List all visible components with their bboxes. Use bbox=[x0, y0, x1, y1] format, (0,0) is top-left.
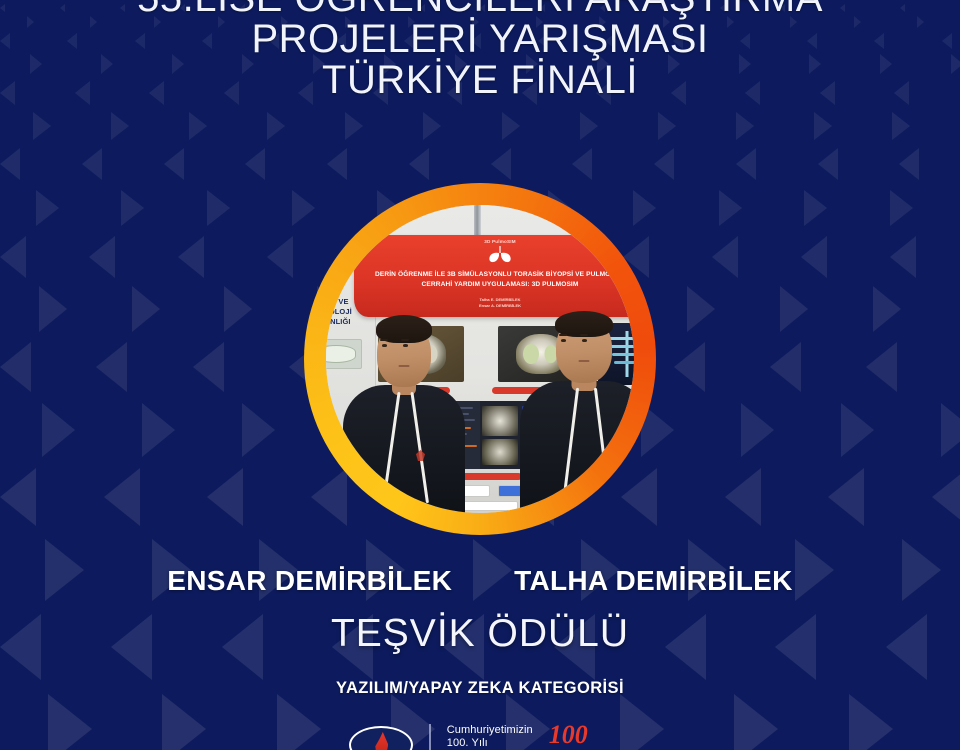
winner-name-1: ENSAR DEMİRBİLEK bbox=[167, 565, 452, 597]
anniversary-mark-item: 100 bbox=[549, 718, 611, 750]
background-triangle bbox=[33, 112, 51, 140]
lungs-icon bbox=[487, 245, 513, 263]
background-triangle bbox=[111, 112, 129, 140]
project-brand-label: 3D PulmoSIM bbox=[354, 239, 634, 244]
award-title-block: TEŞVİK ÖDÜLÜ bbox=[0, 612, 960, 656]
background-triangle bbox=[178, 236, 204, 278]
background-triangle bbox=[104, 468, 140, 526]
background-triangle bbox=[502, 112, 520, 140]
anniversary-mark-text: 100 bbox=[549, 720, 588, 749]
background-triangle bbox=[580, 112, 598, 140]
tubitak-logo-icon bbox=[349, 718, 413, 750]
background-triangle bbox=[242, 403, 275, 457]
background-triangle bbox=[866, 342, 897, 392]
background-triangle bbox=[267, 236, 293, 278]
background-triangle bbox=[814, 112, 832, 140]
booth-scene: SANAYİ VE TEKNOLOJİ BAKANLIĞI 3D PulmoSI… bbox=[326, 205, 634, 513]
background-triangle bbox=[801, 236, 827, 278]
photo-clip: SANAYİ VE TEKNOLOJİ BAKANLIĞI 3D PulmoSI… bbox=[326, 205, 634, 513]
background-triangle bbox=[207, 468, 243, 526]
background-triangle bbox=[193, 342, 224, 392]
background-triangle bbox=[0, 148, 20, 180]
background-triangle bbox=[409, 148, 429, 180]
background-triangle bbox=[491, 148, 511, 180]
background-triangle bbox=[658, 112, 676, 140]
background-triangle bbox=[207, 190, 230, 226]
background-triangle bbox=[82, 148, 102, 180]
background-triangle bbox=[654, 148, 674, 180]
background-triangle bbox=[780, 286, 808, 332]
background-triangle bbox=[121, 190, 144, 226]
background-triangle bbox=[267, 112, 285, 140]
award-title: TEŞVİK ÖDÜLÜ bbox=[331, 612, 629, 655]
student-right bbox=[522, 291, 634, 513]
background-triangle bbox=[142, 403, 175, 457]
anniversary-slogan: Cumhuriyetimizin 100. Yılı bbox=[447, 718, 533, 750]
background-triangle bbox=[741, 403, 774, 457]
background-triangle bbox=[719, 190, 742, 226]
winner-name-2: TALHA DEMİRBİLEK bbox=[514, 565, 793, 597]
slogan-line-2: 100. Yılı bbox=[447, 737, 533, 750]
background-triangle bbox=[736, 148, 756, 180]
footer-divider bbox=[429, 724, 431, 750]
background-triangle bbox=[892, 112, 910, 140]
background-triangle bbox=[841, 403, 874, 457]
background-triangle bbox=[89, 236, 115, 278]
headline-line-2: PROJELERİ YARIŞMASI bbox=[0, 19, 960, 60]
background-triangle bbox=[39, 286, 67, 332]
background-triangle bbox=[804, 190, 827, 226]
winner-names: ENSAR DEMİRBİLEK TALHA DEMİRBİLEK bbox=[0, 565, 960, 597]
slogan-line-1: Cumhuriyetimizin bbox=[447, 724, 533, 737]
background-triangle bbox=[42, 403, 75, 457]
background-triangle bbox=[0, 342, 31, 392]
student-left bbox=[344, 295, 464, 513]
background-triangle bbox=[873, 286, 901, 332]
headline-line-1: 55.LİSE ÖĞRENCİLERİ ARAŞTIRMA bbox=[0, 0, 960, 19]
background-triangle bbox=[687, 286, 715, 332]
headline-line-3: TÜRKİYE FİNALİ bbox=[0, 60, 960, 101]
background-triangle bbox=[890, 190, 913, 226]
poster-headline: 55.LİSE ÖĞRENCİLERİ ARAŞTIRMA PROJELERİ … bbox=[0, 0, 960, 100]
background-triangle bbox=[327, 148, 347, 180]
background-triangle bbox=[674, 342, 705, 392]
background-triangle bbox=[828, 468, 864, 526]
background-triangle bbox=[0, 236, 26, 278]
background-triangle bbox=[224, 286, 252, 332]
background-triangle bbox=[345, 112, 363, 140]
background-triangle bbox=[0, 468, 36, 526]
background-triangle bbox=[189, 112, 207, 140]
background-triangle bbox=[572, 148, 592, 180]
background-triangle bbox=[818, 148, 838, 180]
background-triangle bbox=[712, 236, 738, 278]
anniversary-slogan-item: Cumhuriyetimizin 100. Yılı bbox=[447, 718, 533, 750]
tubitak-logo-item bbox=[349, 718, 413, 750]
background-triangle bbox=[932, 468, 960, 526]
background-triangle bbox=[736, 112, 754, 140]
anniversary-mark-icon: 100 bbox=[549, 718, 611, 750]
project-author-2: Ensar A. DEMİRBİLEK bbox=[479, 303, 521, 308]
background-triangle bbox=[96, 342, 127, 392]
background-triangle bbox=[164, 148, 184, 180]
award-category: YAZILIM/YAPAY ZEKA KATEGORİSİ bbox=[336, 679, 624, 697]
project-author-1: Talha E. DEMİRBİLEK bbox=[479, 297, 520, 302]
background-triangle bbox=[890, 236, 916, 278]
background-triangle bbox=[423, 112, 441, 140]
background-triangle bbox=[941, 403, 960, 457]
award-poster: 55.LİSE ÖĞRENCİLERİ ARAŞTIRMA PROJELERİ … bbox=[0, 0, 960, 750]
background-triangle bbox=[245, 148, 265, 180]
award-category-block: YAZILIM/YAPAY ZEKA KATEGORİSİ bbox=[0, 679, 960, 698]
background-triangle bbox=[725, 468, 761, 526]
winners-photo: SANAYİ VE TEKNOLOJİ BAKANLIĞI 3D PulmoSI… bbox=[304, 183, 656, 535]
background-triangle bbox=[770, 342, 801, 392]
background-triangle bbox=[899, 148, 919, 180]
background-triangle bbox=[36, 190, 59, 226]
footer-logos: Cumhuriyetimizin 100. Yılı 100 bbox=[0, 714, 960, 750]
project-banner-title: DERİN ÖĞRENME İLE 3B SİMÜLASYONLU TORASİ… bbox=[364, 270, 634, 289]
background-triangle bbox=[132, 286, 160, 332]
